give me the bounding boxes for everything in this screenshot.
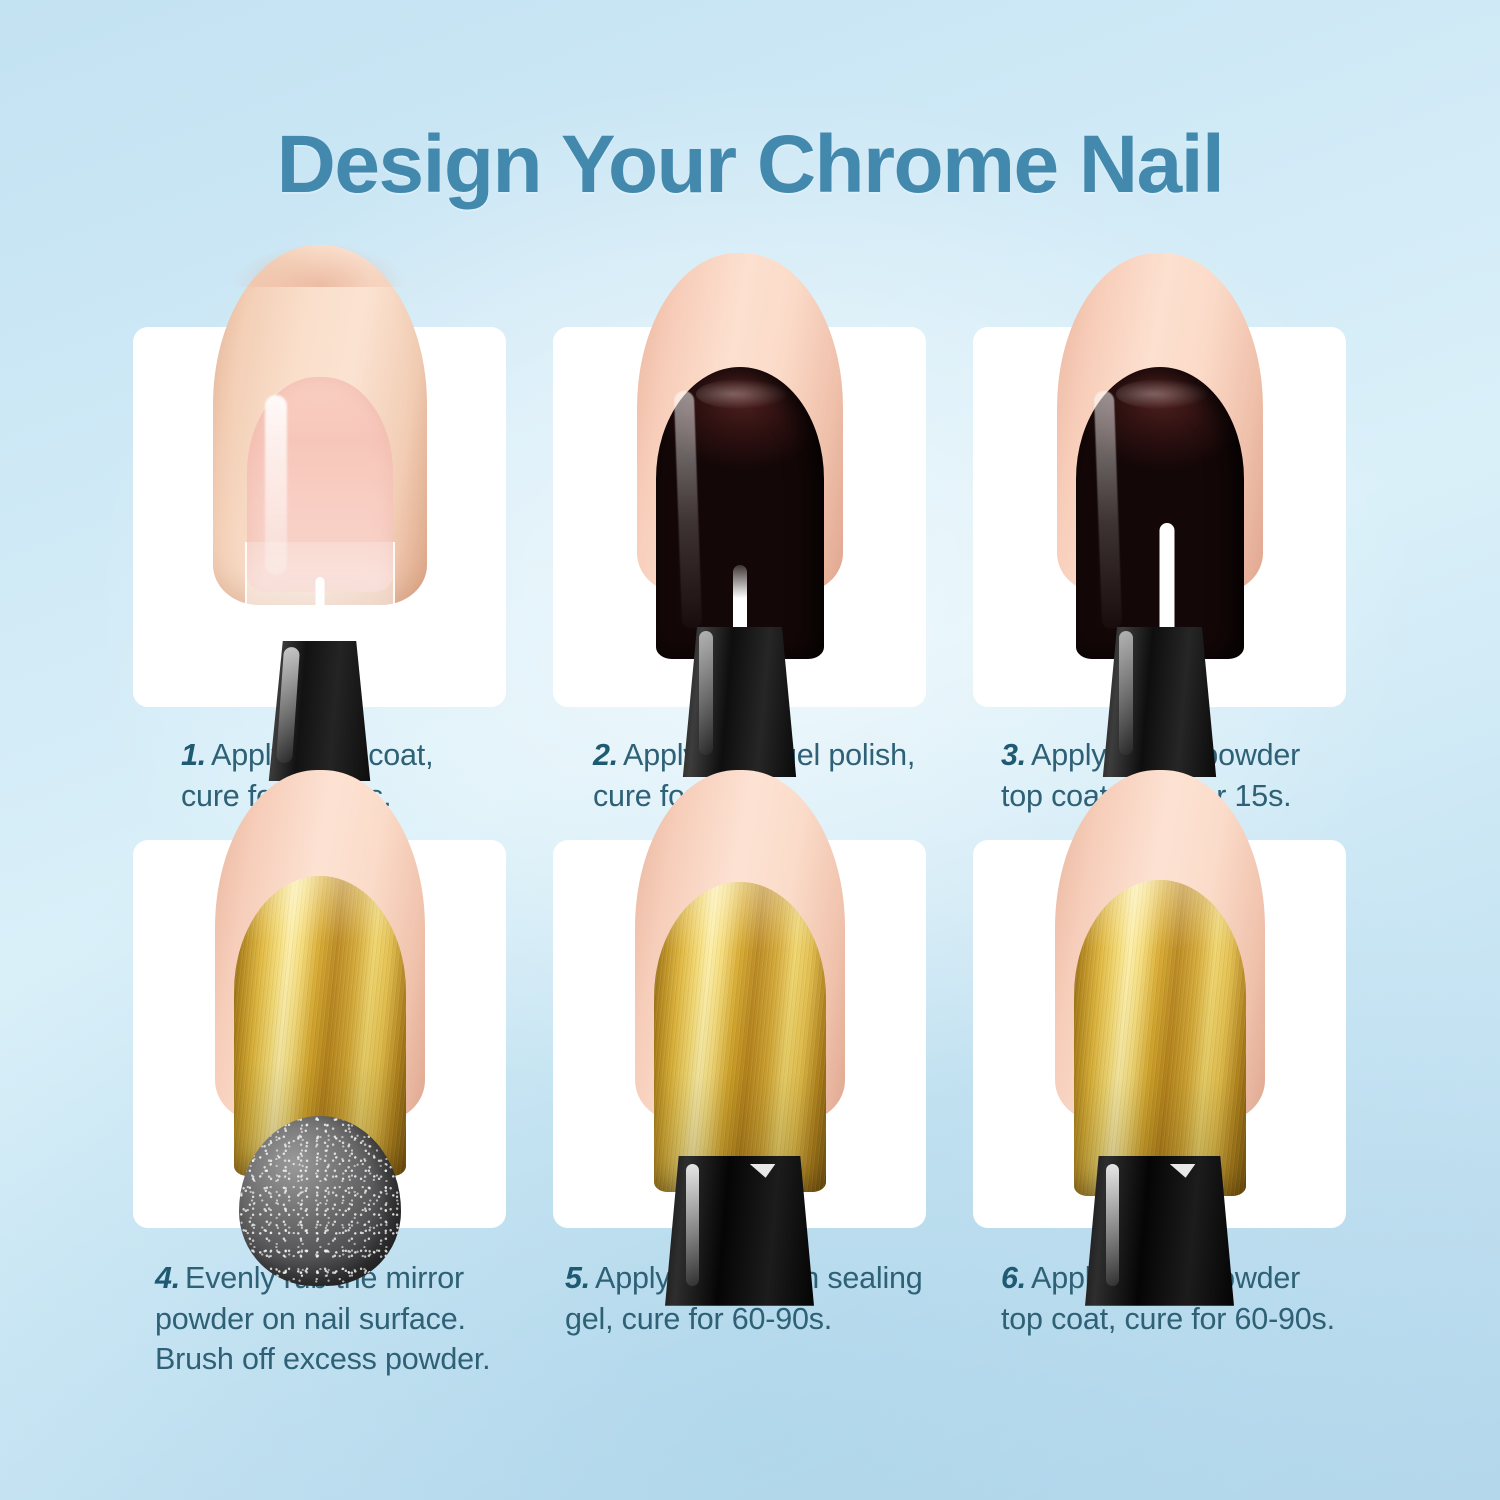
- step-image-1: [133, 327, 506, 707]
- step-image-2: [553, 327, 926, 707]
- nail-highlight: [673, 391, 701, 630]
- step-image-3: [973, 327, 1346, 707]
- step-number-6: 6.: [1001, 1261, 1026, 1295]
- sponge-glitter-texture: [239, 1116, 401, 1286]
- sealing-gel-brush: [664, 1156, 816, 1306]
- color-gel-brush: [681, 627, 799, 777]
- step-card-3: 3.Apply mirror powder top coat, cure for…: [973, 327, 1346, 817]
- powder-applicator-sponge: [239, 1116, 401, 1286]
- brush-highlight: [699, 631, 713, 755]
- base-coat-brush: [266, 641, 374, 781]
- step-card-6: 6.Apply mirror powder top coat, cure for…: [973, 840, 1346, 1381]
- chrome-sheen: [1074, 880, 1246, 1196]
- step-image-4: [133, 840, 506, 1228]
- mirror-powder-top-coat-brush: [1084, 1156, 1236, 1306]
- brush-highlight: [1106, 1164, 1119, 1286]
- step-card-2: 2.Apply color gel polish, cure for 30s.: [553, 327, 926, 817]
- step-number-1: 1.: [181, 738, 206, 772]
- step-text-5-line2: gel, cure for 60-90s.: [565, 1302, 832, 1336]
- step-card-4: 4.Evenly rub the mirror powder on nail s…: [133, 840, 506, 1381]
- brush-shine-chip: [1170, 1164, 1196, 1178]
- page-title: Design Your Chrome Nail: [0, 118, 1500, 212]
- chrome-grain: [654, 882, 826, 1192]
- gold-chrome-nail: [1074, 880, 1246, 1196]
- step-image-6: [973, 840, 1346, 1228]
- brush-highlight: [686, 1164, 699, 1286]
- step-number-4: 4.: [155, 1261, 180, 1295]
- mirror-powder-top-coat-brush: [1101, 627, 1219, 777]
- mirror-powder-streak: [1159, 523, 1174, 643]
- brush-shine-chip: [750, 1164, 776, 1178]
- chrome-sheen: [654, 882, 826, 1192]
- chrome-grain: [1074, 880, 1246, 1196]
- step-number-2: 2.: [593, 738, 618, 772]
- nail-highlight: [1093, 391, 1121, 630]
- step-number-3: 3.: [1001, 738, 1026, 772]
- gold-chrome-nail: [654, 882, 826, 1192]
- nail-top-sheen: [1116, 379, 1208, 409]
- step-text-6-line2: top coat, cure for 60-90s.: [1001, 1302, 1335, 1336]
- steps-grid: 1.Apply base coat, cure for 60-90s. 2.Ap…: [133, 327, 1360, 1380]
- brush-highlight: [1119, 631, 1133, 755]
- step-text-4-line3: Brush off excess powder.: [155, 1342, 490, 1376]
- step-card-1: 1.Apply base coat, cure for 60-90s.: [133, 327, 506, 817]
- step-text-4-line2: powder on nail surface.: [155, 1302, 466, 1336]
- cuticle-shadow: [232, 243, 408, 287]
- step-image-5: [553, 840, 926, 1228]
- step-card-5: 5.Apply decoration sealing gel, cure for…: [553, 840, 926, 1381]
- step-number-5: 5.: [565, 1261, 590, 1295]
- nail-top-sheen: [696, 379, 788, 409]
